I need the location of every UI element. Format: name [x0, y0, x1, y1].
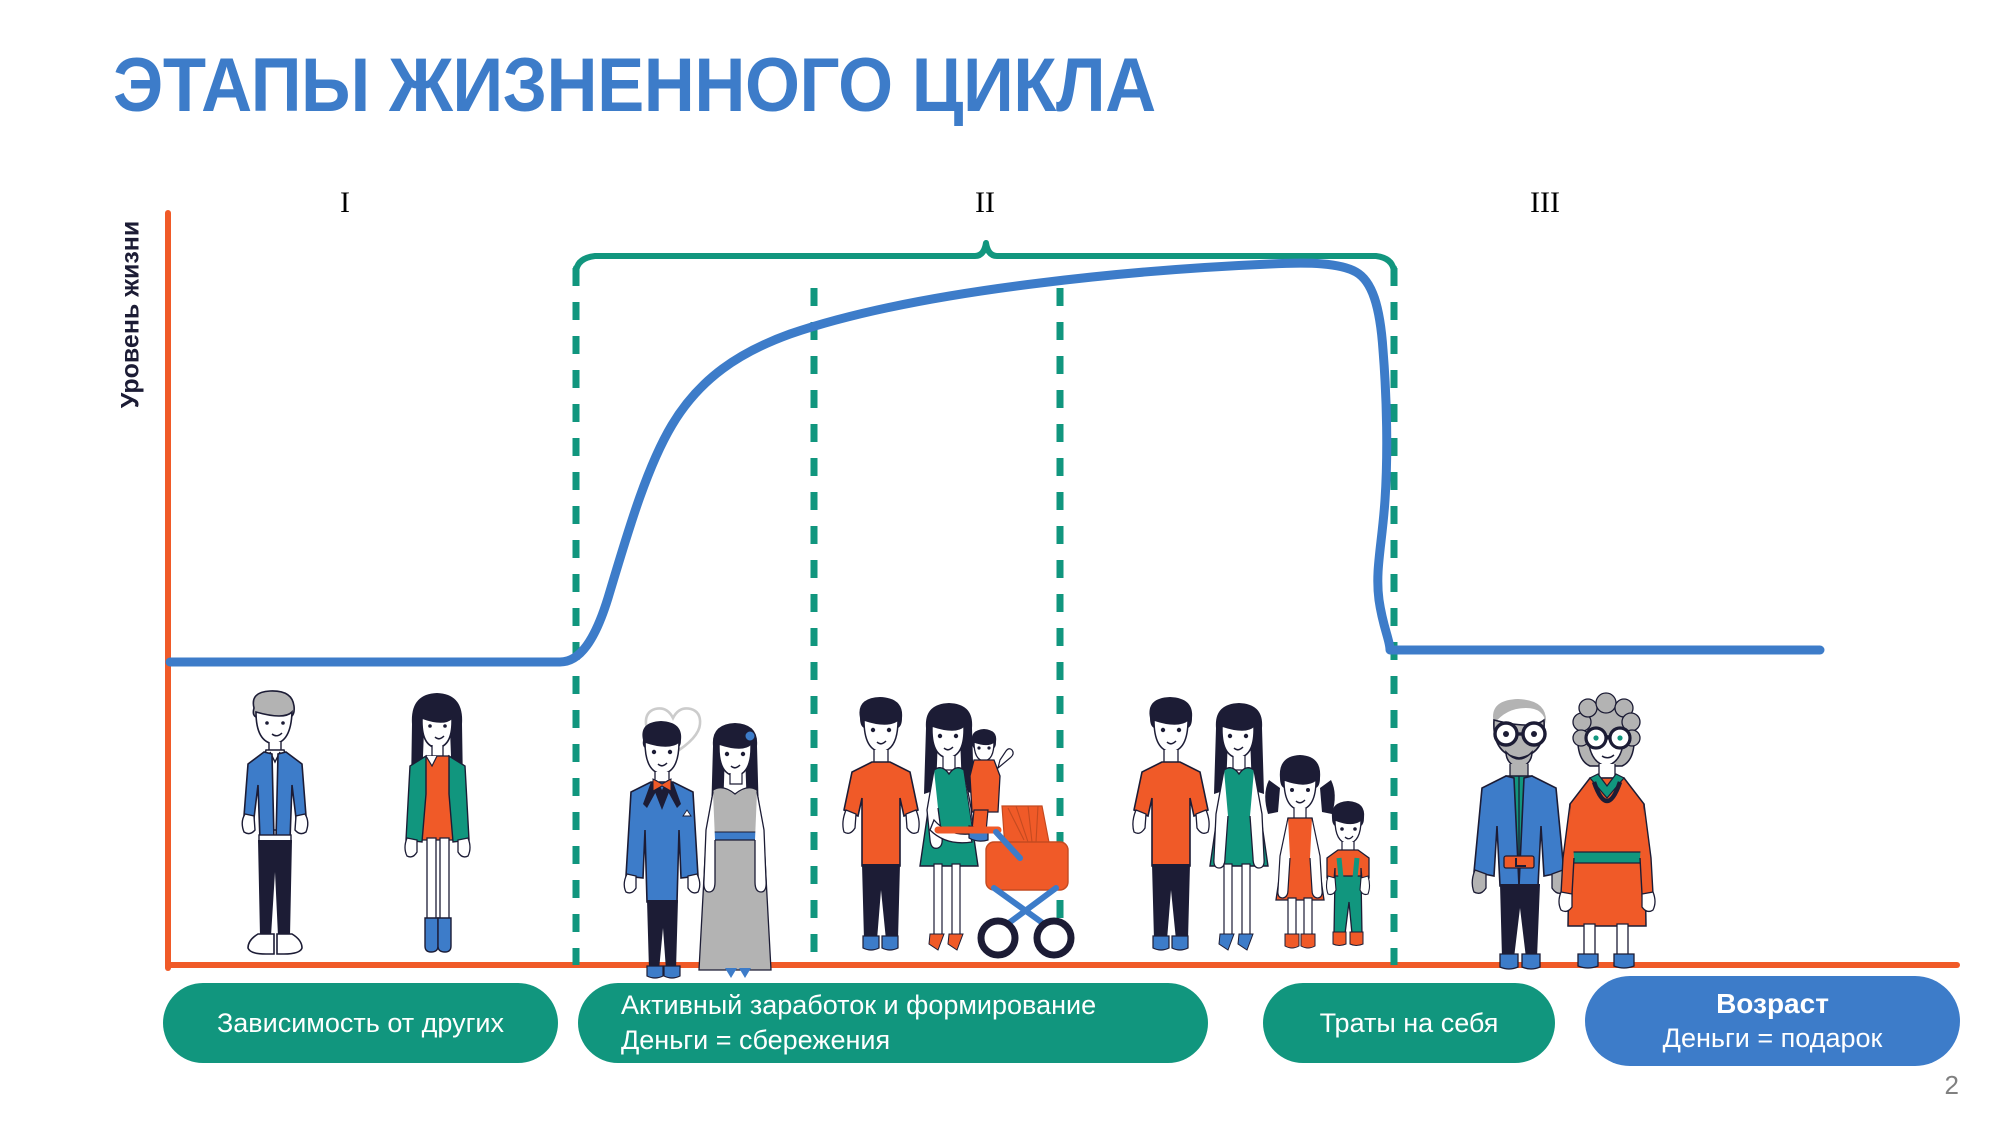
mother-2	[1210, 703, 1268, 950]
stage-label-self-spending[interactable]: Траты на себя	[1263, 983, 1555, 1063]
stage-label-active-earning-line1: Активный заработок и формирование	[621, 988, 1096, 1023]
stage-label-dependence[interactable]: Зависимость от других	[163, 983, 558, 1063]
father	[843, 697, 919, 950]
page-number: 2	[1945, 1070, 1959, 1101]
grandmother	[1559, 693, 1655, 968]
standard-of-living-curve	[170, 263, 1820, 662]
father-2	[1133, 697, 1209, 950]
stage-label-active-earning[interactable]: Активный заработок и формирование Деньги…	[578, 983, 1208, 1063]
grandfather	[1472, 699, 1566, 969]
groom	[624, 721, 700, 978]
stage-label-age-subtitle: Деньги = подарок	[1663, 1022, 1883, 1055]
stage-dividers	[576, 268, 1394, 965]
stage-label-age-title: Возраст	[1716, 987, 1829, 1021]
stage-label-active-earning-line2: Деньги = сбережения	[621, 1023, 1096, 1058]
stage-label-dependence-text: Зависимость от других	[217, 1008, 504, 1039]
figure-young-man	[242, 691, 308, 954]
figure-family-with-children	[1133, 697, 1370, 950]
bride	[699, 723, 771, 978]
lifecycle-chart	[0, 0, 2000, 1125]
stage-label-age[interactable]: Возраст Деньги = подарок	[1585, 976, 1960, 1066]
stage-label-self-spending-text: Траты на себя	[1320, 1008, 1499, 1039]
figure-young-woman	[405, 693, 470, 952]
son	[1327, 801, 1370, 946]
figure-elderly-couple	[1472, 693, 1655, 969]
daughter	[1265, 755, 1335, 948]
slide-root: ЭТАПЫ ЖИЗНЕННОГО ЦИКЛА Уровень жизни I I…	[0, 0, 2000, 1125]
figure-family-with-baby	[843, 697, 1071, 955]
figure-wedding-couple	[624, 708, 771, 978]
